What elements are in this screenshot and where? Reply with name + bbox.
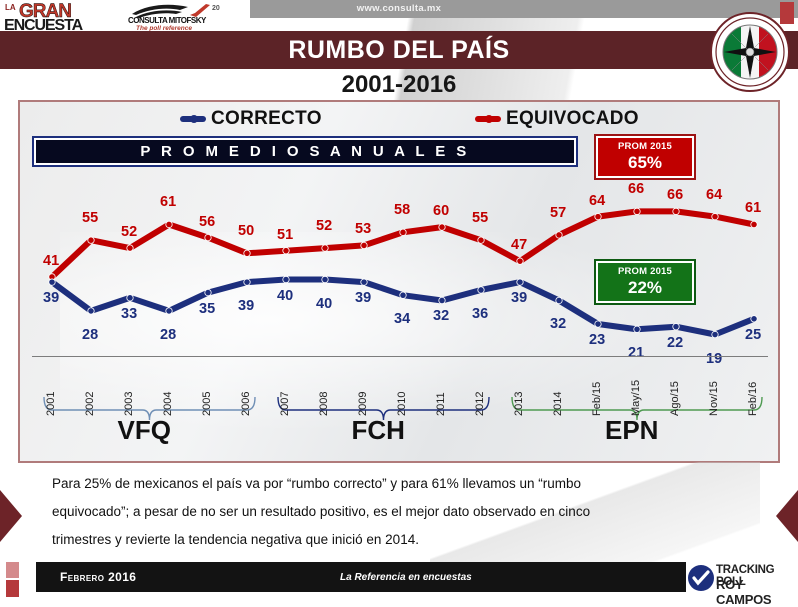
svg-text:N: N	[749, 31, 752, 36]
footer-accent-square-dark	[6, 580, 19, 597]
x-tick-label: 2002	[84, 392, 96, 416]
data-label-correcto: 35	[199, 301, 215, 317]
data-label-equivocado: 55	[472, 210, 488, 226]
anniversary-text: 20	[212, 5, 220, 12]
right-arrow-decoration	[776, 490, 798, 542]
brand-logo: LA GRAN ENCUESTA 20 CONSULTA MITOFSKY Th…	[0, 0, 250, 34]
chart-panel: CORRECTO EQUIVOCADO P R O M E D I O S A …	[18, 100, 780, 463]
x-tick-label: Ago/15	[669, 381, 681, 416]
summary-paragraph: Para 25% de mexicanos el país va por “ru…	[52, 470, 752, 554]
summary-line-2: equivocado”; a pesar de no ser un result…	[52, 498, 752, 526]
data-label-equivocado: 52	[316, 218, 332, 234]
x-tick-label: 2012	[474, 392, 486, 416]
tracking-poll-line2: ROY CAMPOS	[716, 577, 798, 607]
series-line-equivocado	[52, 211, 754, 277]
x-tick-label: 2013	[513, 392, 525, 416]
data-label-equivocado: 53	[355, 221, 371, 237]
x-tick-label: 2004	[162, 392, 174, 416]
data-label-equivocado: 66	[667, 187, 683, 203]
data-label-equivocado: 51	[277, 227, 293, 243]
data-label-equivocado: 57	[550, 205, 566, 221]
series-points-equivocado	[49, 208, 757, 280]
data-label-correcto: 32	[433, 308, 449, 324]
data-label-correcto: 21	[628, 345, 644, 361]
mitofsky-company-name: CONSULTA MITOFSKY	[128, 16, 206, 25]
footer-slogan: La Referencia en encuestas	[340, 572, 472, 583]
data-label-correcto: 39	[511, 290, 527, 306]
x-tick-label: 2008	[318, 392, 330, 416]
data-label-correcto: 32	[550, 316, 566, 332]
footer-accent-square-light	[6, 562, 19, 578]
president-label-epn: EPN	[605, 415, 658, 446]
footer-date: Febrero 2016	[60, 570, 136, 584]
x-axis-line	[32, 356, 768, 357]
x-tick-label: May/15	[630, 380, 642, 416]
x-tick-label: 2011	[435, 392, 447, 416]
x-tick-label: 2005	[201, 392, 213, 416]
president-label-vfq: VFQ	[118, 415, 171, 446]
logo-la-text: LA	[5, 3, 16, 12]
summary-line-3: trimestres y revierte la tendencia negat…	[52, 526, 752, 554]
data-label-equivocado: 66	[628, 181, 644, 197]
left-arrow-decoration	[0, 490, 22, 542]
compass-rose-icon: N S	[710, 12, 790, 92]
page-title: RUMBO DEL PAÍS	[0, 31, 798, 69]
data-label-correcto: 19	[706, 351, 722, 367]
tracking-poll-logo: TRACKING POLL ROY CAMPOS	[686, 560, 798, 597]
x-tick-label: Feb/16	[747, 382, 759, 416]
data-label-correcto: 39	[355, 290, 371, 306]
data-label-equivocado: 61	[745, 200, 761, 216]
data-label-correcto: 40	[277, 288, 293, 304]
data-label-equivocado: 50	[238, 223, 254, 239]
checkmark-icon	[688, 565, 714, 591]
data-label-correcto: 22	[667, 335, 683, 351]
data-label-equivocado: 52	[121, 224, 137, 240]
data-label-correcto: 28	[82, 327, 98, 343]
data-label-equivocado: 56	[199, 214, 215, 230]
page-subtitle: 2001-2016	[0, 70, 798, 100]
x-tick-label: 2007	[279, 392, 291, 416]
data-label-equivocado: 60	[433, 203, 449, 219]
x-tick-label: 2006	[240, 392, 252, 416]
x-tick-label: Nov/15	[708, 381, 720, 416]
data-label-correcto: 28	[160, 327, 176, 343]
x-tick-label: 2014	[552, 392, 564, 416]
data-label-correcto: 33	[121, 306, 137, 322]
data-label-equivocado: 61	[160, 194, 176, 210]
data-label-correcto: 39	[238, 298, 254, 314]
summary-line-1: Para 25% de mexicanos el país va por “ru…	[52, 470, 752, 498]
x-tick-label: Feb/15	[591, 382, 603, 416]
mitofsky-logo: 20 CONSULTA MITOFSKY The poll reference	[128, 2, 246, 34]
data-label-correcto: 39	[43, 290, 59, 306]
data-label-correcto: 23	[589, 332, 605, 348]
president-label-fch: FCH	[352, 415, 405, 446]
data-label-correcto: 25	[745, 327, 761, 343]
data-label-equivocado: 41	[43, 253, 59, 269]
x-tick-label: 2003	[123, 392, 135, 416]
svg-text:S: S	[749, 70, 752, 75]
data-label-correcto: 34	[394, 311, 410, 327]
data-label-equivocado: 47	[511, 237, 527, 253]
gran-encuesta-logo: LA GRAN ENCUESTA	[3, 1, 125, 34]
x-tick-label: 2009	[357, 392, 369, 416]
data-label-equivocado: 64	[706, 187, 722, 203]
data-label-correcto: 40	[316, 296, 332, 312]
data-label-equivocado: 64	[589, 193, 605, 209]
data-label-correcto: 36	[472, 306, 488, 322]
x-tick-label: 2001	[45, 392, 57, 416]
data-label-equivocado: 55	[82, 210, 98, 226]
x-tick-label: 2010	[396, 392, 408, 416]
data-label-equivocado: 58	[394, 202, 410, 218]
